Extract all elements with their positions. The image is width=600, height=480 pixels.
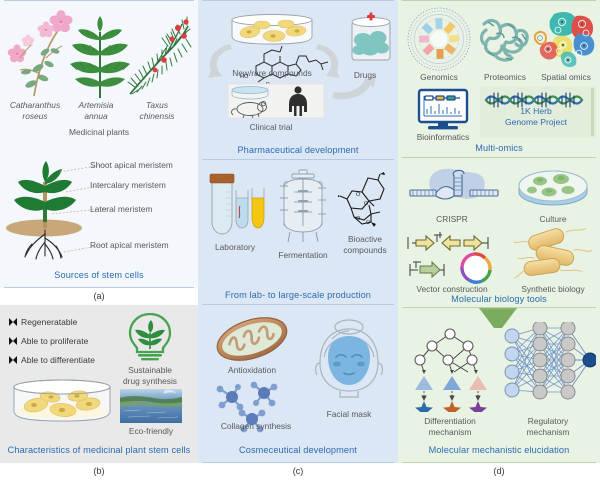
meristem-callout-lateral: Lateral meristem (90, 204, 152, 215)
meristem-callout-root-apical: Root apical meristem (90, 240, 169, 251)
diamond-bullet-icon (9, 337, 17, 345)
panel-d-section-multiomics: Genomics (398, 0, 600, 158)
diamond-bullet-icon (9, 356, 17, 364)
bullet-label: Able to proliferate (21, 336, 88, 346)
bullet-label: Able to differentiate (21, 355, 95, 365)
svg-text:O: O (364, 201, 368, 207)
panel-c-section-cosmeceutical: Antioxidation (198, 305, 398, 463)
svg-text:O: O (366, 220, 370, 226)
panel-d-section3-caption: Molecular mechanistic elucidation (398, 445, 600, 455)
medicinal-plants-illustration (4, 8, 194, 100)
lightbulb-plant-icon (122, 311, 178, 363)
bullet-label: Regeneratable (21, 317, 77, 327)
eco-friendly-label: Eco-friendly (118, 426, 184, 437)
panel-a-letter: (a) (0, 288, 198, 305)
crispr-cas9-icon (408, 166, 500, 214)
figure-root: Catharanthus roseus Artemisia annua Taxu… (0, 0, 600, 480)
column-left: Catharanthus roseus Artemisia annua Taxu… (0, 0, 198, 480)
fermentation-label: Fermentation (270, 250, 336, 261)
algae-pond-photo-icon (120, 389, 182, 423)
test-tubes-icon (206, 172, 268, 238)
svg-text:O: O (356, 216, 360, 222)
panel-a-caption: Sources of stem cells (0, 270, 198, 280)
bullet-regeneratable: Regeneratable (9, 317, 95, 327)
panel-c-section-pharmaceutical: HO R (198, 0, 398, 160)
circos-genome-plot-icon (406, 6, 472, 72)
spatial-omics-label: Spatial omics (532, 72, 600, 83)
bioinformatics-label: Bioinformatics (400, 132, 486, 143)
facial-mask-icon (310, 317, 388, 405)
panel-c-letter: (c) (198, 463, 398, 480)
facial-mask-label: Facial mask (312, 409, 386, 420)
mitochondrion-icon (212, 315, 292, 363)
panel-b-letter: (b) (0, 463, 198, 480)
panel-b: Regeneratable Able to proliferate Able t… (0, 305, 198, 463)
artemisinin-structure-icon: O O O O (338, 172, 396, 232)
medicinal-plants-group-label: Medicinal plants (0, 127, 198, 138)
bioactive-compounds-label: Bioactive compounds (334, 234, 396, 255)
panel-d-section-tools: CRISPR (398, 158, 600, 308)
plant-label-artemisia: Artemisia annua (66, 100, 126, 121)
column-right: Genomics (398, 0, 600, 480)
bullet-differentiate: Able to differentiate (9, 355, 95, 365)
sustainable-drug-synthesis-label: Sustainable drug synthesis (110, 365, 190, 386)
synthetic-biology-label: Synthetic biology (506, 284, 600, 295)
svg-text:O: O (356, 192, 360, 198)
bioreactor-icon (274, 168, 332, 244)
panel-b-bullet-list: Regeneratable Able to proliferate Able t… (9, 317, 95, 374)
panel-c-section3-caption: Cosmeceutical development (198, 445, 398, 455)
lineage-tree-icon (406, 326, 498, 412)
spatial-tissue-map-icon (534, 6, 598, 70)
column-middle: HO R (198, 0, 398, 480)
plasmid-vector-icon (404, 232, 504, 284)
meristem-callout-shoot-apical: Shoot apical meristem (90, 160, 173, 171)
plant-label-taxus: Taxus chinensis (126, 100, 188, 121)
panel-c-section1-caption: Pharmaceutical development (198, 145, 398, 155)
panel-d-section-mechanism: Differentiation mechanism (398, 308, 600, 463)
genomics-label: Genomics (402, 72, 476, 83)
panel-d-section2-caption: Molecular biology tools (398, 294, 600, 304)
panel-d-letter: (d) (398, 463, 600, 480)
culture-label: Culture (518, 214, 588, 225)
regulatory-mechanism-label: Regulatory mechanism (502, 416, 594, 437)
antioxidation-label: Antioxidation (208, 365, 296, 376)
panel-a: Catharanthus roseus Artemisia annua Taxu… (0, 0, 198, 288)
petri-dish-callus-icon (516, 166, 590, 210)
panel-c-section2-caption: From lab- to large-scale production (198, 290, 398, 300)
collagen-synthesis-label: Collagen synthesis (204, 421, 308, 432)
new-rare-compounds-label: New/rare compounds (214, 68, 330, 79)
laboratory-label: Laboratory (204, 242, 266, 253)
neural-network-icon (500, 322, 596, 410)
clinical-trial-label: Clinical trial (216, 122, 326, 133)
drugs-label: Drugs (338, 70, 392, 81)
petri-dish-cells-icon (10, 377, 115, 425)
proteomics-label: Proteomics (472, 72, 538, 83)
meristem-callout-intercalary: Intercalary meristem (90, 180, 166, 191)
protein-structure-icon (476, 10, 534, 70)
bullet-proliferate: Able to proliferate (9, 336, 95, 346)
herb-genome-project-label: 1K Herb Genome Project (480, 106, 592, 128)
panel-d-section1-caption: Multi-omics (398, 143, 600, 153)
computer-monitor-icon (416, 88, 470, 132)
diamond-bullet-icon (9, 318, 17, 326)
differentiation-mechanism-label: Differentiation mechanism (402, 416, 498, 437)
panel-b-caption: Characteristics of medicinal plant stem … (0, 445, 198, 455)
bacteria-rods-icon (514, 228, 594, 284)
plant-label-catharanthus: Catharanthus roseus (4, 100, 66, 121)
vector-construction-label: Vector construction (400, 284, 504, 295)
crispr-label: CRISPR (406, 214, 498, 225)
panel-c-section-production: Laboratory (198, 160, 398, 305)
